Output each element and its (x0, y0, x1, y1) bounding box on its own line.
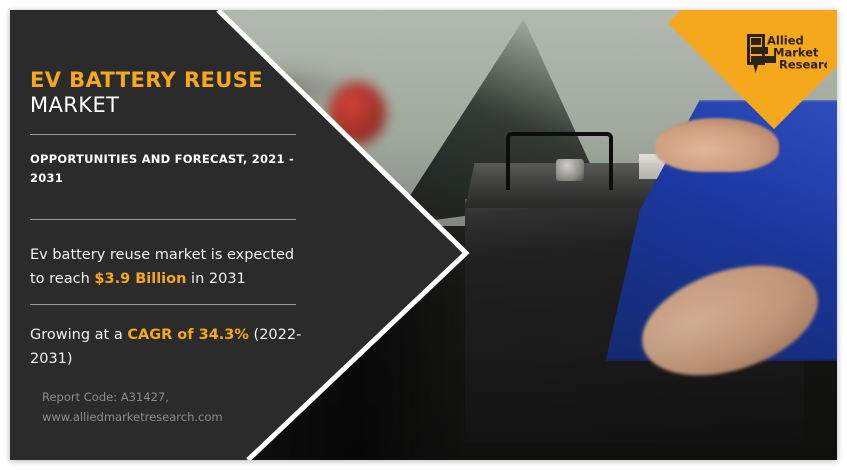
forecast-period-label: OPPORTUNITIES AND FORECAST, 2021 - 2031 (30, 150, 302, 187)
page-title: EV BATTERY REUSE MARKET (30, 68, 308, 118)
stat-market-value-highlight: $3.9 Billion (94, 271, 186, 287)
stat-market-value-suffix: in 2031 (186, 271, 245, 287)
divider-top (30, 134, 296, 135)
stat-cagr-highlight: CAGR of 34.3% (127, 327, 249, 343)
stat-cagr: Growing at a CAGR of 34.3% (2022-2031) (30, 324, 302, 371)
divider-bottom (30, 304, 296, 305)
footnote: Report Code: A31427, www.alliedmarketres… (42, 388, 322, 428)
title-line-secondary: MARKET (30, 93, 308, 118)
allied-market-research-logo[interactable]: Allied Market Research (745, 32, 827, 80)
logo-text-research: Research (779, 58, 827, 72)
stat-market-value: Ev battery reuse market is expected to r… (30, 244, 302, 291)
report-code: Report Code: A31427, (42, 388, 322, 408)
title-line-primary: EV BATTERY REUSE (30, 68, 308, 93)
website-url[interactable]: www.alliedmarketresearch.com (42, 408, 322, 428)
stat-cagr-prefix: Growing at a (30, 327, 127, 343)
infographic-card: EV BATTERY REUSE MARKET OPPORTUNITIES AN… (10, 10, 837, 460)
divider-middle (30, 219, 296, 220)
